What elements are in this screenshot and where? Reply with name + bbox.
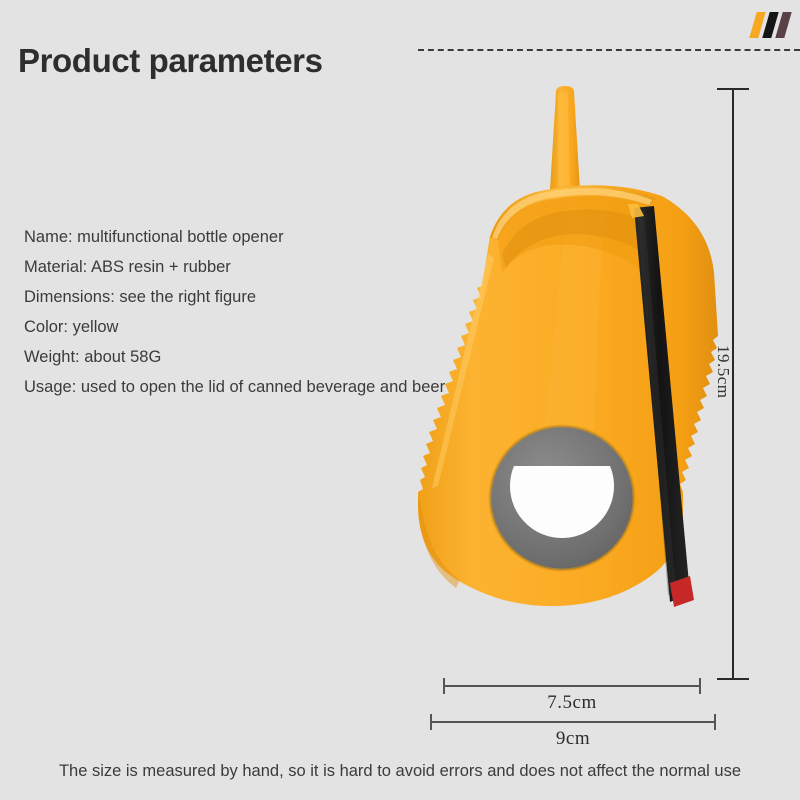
brand-logo xyxy=(753,12,795,38)
dimension-height-label: 19.5cm xyxy=(713,345,733,399)
dimension-width-outer-label: 9cm xyxy=(430,728,716,750)
dimension-width-inner-label: 7.5cm xyxy=(443,692,701,714)
dimension-height-cap-top xyxy=(717,88,749,90)
page-title: Product parameters xyxy=(18,42,323,80)
bottle-opener-hole xyxy=(490,426,634,570)
product-image xyxy=(418,86,718,686)
product-hang-tab xyxy=(550,86,580,190)
dimension-width-inner-line xyxy=(443,685,701,687)
footer-disclaimer: The size is measured by hand, so it is h… xyxy=(0,762,800,781)
dimension-height-cap-bottom xyxy=(717,678,749,680)
dimension-width-outer-line xyxy=(430,721,716,723)
logo-bar-maroon-icon xyxy=(775,12,791,38)
header-dashed-divider xyxy=(418,49,800,51)
product-parameters-page: Product parameters Name: multifunctional… xyxy=(0,0,800,800)
